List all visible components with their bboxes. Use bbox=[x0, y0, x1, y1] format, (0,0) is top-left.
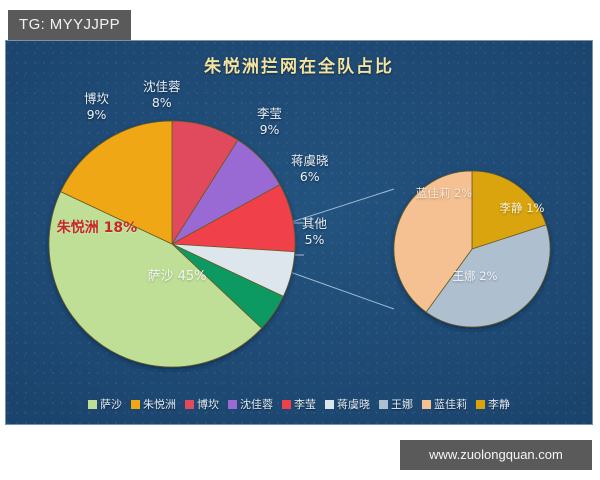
legend-item-label: 博坎 bbox=[197, 396, 219, 412]
legend-swatch-icon bbox=[185, 400, 194, 409]
legend-item-label: 蒋虞晓 bbox=[337, 396, 370, 412]
slice-label-zhuyuezhou: 朱悦洲 18% bbox=[42, 219, 152, 237]
callout-shenjiarong-name: 沈佳蓉 bbox=[143, 79, 181, 95]
legend-swatch-icon bbox=[325, 400, 334, 409]
callout-shenjiarong: 沈佳蓉 8% bbox=[143, 79, 181, 111]
callout-jiangyuxiao-pct: 6% bbox=[291, 169, 329, 185]
legend-item-label: 沈佳蓉 bbox=[240, 396, 273, 412]
legend-item-label: 王娜 bbox=[391, 396, 413, 412]
callout-bokan-pct: 9% bbox=[84, 107, 109, 123]
legend-swatch-icon bbox=[88, 400, 97, 409]
slice-label-lanjiali: 蓝佳莉 2% bbox=[404, 186, 484, 201]
legend-item-5[interactable]: 蒋虞晓 bbox=[325, 396, 370, 412]
callout-liying-pct: 9% bbox=[257, 122, 282, 138]
legend-item-label: 李静 bbox=[488, 396, 510, 412]
callout-other-name: 其他 bbox=[302, 216, 327, 232]
callout-other: 其他 5% bbox=[302, 216, 327, 248]
callout-liying: 李莹 9% bbox=[257, 106, 282, 138]
legend-swatch-icon bbox=[379, 400, 388, 409]
legend-item-1[interactable]: 朱悦洲 bbox=[131, 396, 176, 412]
callout-shenjiarong-pct: 8% bbox=[143, 95, 181, 111]
legend-item-7[interactable]: 蓝佳莉 bbox=[422, 396, 467, 412]
callout-bokan-name: 博坎 bbox=[84, 91, 109, 107]
legend-item-label: 萨沙 bbox=[100, 396, 122, 412]
legend-item-label: 李莹 bbox=[294, 396, 316, 412]
slice-label-lijing: 李静 1% bbox=[492, 201, 552, 216]
legend-item-0[interactable]: 萨沙 bbox=[88, 396, 122, 412]
pie-chart-panel: 朱悦洲拦网在全队占比 bbox=[5, 40, 593, 425]
chart-legend: 萨沙朱悦洲博坎沈佳蓉李莹蒋虞晓王娜蓝佳莉李静 bbox=[6, 396, 592, 412]
tg-watermark-badge: TG: MYYJJPP bbox=[8, 10, 131, 40]
slice-label-zhuyuezhou-pct: 18% bbox=[104, 220, 138, 236]
slice-label-lanjiali-pct: 2% bbox=[454, 186, 472, 200]
slice-label-wangna-name: 王娜 bbox=[453, 269, 476, 283]
legend-swatch-icon bbox=[228, 400, 237, 409]
slice-label-wangna-pct: 2% bbox=[479, 269, 497, 283]
slice-label-sasha: 萨沙 45% bbox=[134, 269, 220, 286]
legend-swatch-icon bbox=[476, 400, 485, 409]
legend-swatch-icon bbox=[422, 400, 431, 409]
slice-label-sasha-name: 萨沙 bbox=[147, 269, 173, 284]
site-watermark-badge: www.zuolongquan.com bbox=[400, 440, 592, 470]
slice-label-lanjiali-name: 蓝佳莉 bbox=[416, 186, 451, 200]
legend-item-6[interactable]: 王娜 bbox=[379, 396, 413, 412]
legend-item-4[interactable]: 李莹 bbox=[282, 396, 316, 412]
slice-label-wangna: 王娜 2% bbox=[442, 269, 508, 284]
legend-item-8[interactable]: 李静 bbox=[476, 396, 510, 412]
callout-jiangyuxiao-name: 蒋虞晓 bbox=[291, 153, 329, 169]
slice-label-zhuyuezhou-name: 朱悦洲 bbox=[57, 220, 99, 236]
callout-liying-name: 李莹 bbox=[257, 106, 282, 122]
main-pie bbox=[49, 121, 295, 367]
callout-bokan: 博坎 9% bbox=[84, 91, 109, 123]
callout-jiangyuxiao: 蒋虞晓 6% bbox=[291, 153, 329, 185]
legend-item-label: 朱悦洲 bbox=[143, 396, 176, 412]
legend-swatch-icon bbox=[282, 400, 291, 409]
legend-item-3[interactable]: 沈佳蓉 bbox=[228, 396, 273, 412]
legend-item-label: 蓝佳莉 bbox=[434, 396, 467, 412]
screenshot-root: TG: MYYJJPP 朱悦洲拦网在全队占比 bbox=[0, 0, 600, 480]
slice-label-lijing-name: 李静 bbox=[500, 201, 523, 215]
slice-label-sasha-pct: 45% bbox=[178, 269, 207, 284]
slice-label-lijing-pct: 1% bbox=[526, 201, 544, 215]
legend-item-2[interactable]: 博坎 bbox=[185, 396, 219, 412]
legend-swatch-icon bbox=[131, 400, 140, 409]
callout-other-pct: 5% bbox=[302, 232, 327, 248]
